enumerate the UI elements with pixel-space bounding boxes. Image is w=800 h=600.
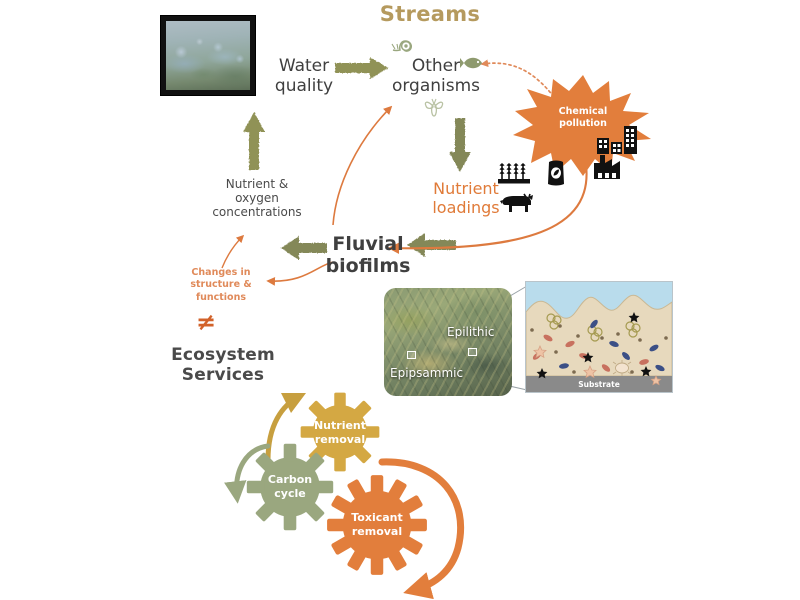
gear-toxicant-removal[interactable]: Toxicant removal [325, 473, 429, 577]
cow-icon [500, 192, 534, 215]
node-nutrient-oxygen: Nutrient & oxygen concentrations [202, 177, 312, 219]
crops-icon [497, 158, 531, 184]
node-changes: Changes in structure & functions [175, 267, 267, 304]
biofilm-schematic: Substrate [525, 281, 673, 393]
marker-epilithic [468, 348, 477, 356]
arrow-changes-to-otherorganisms [333, 107, 391, 225]
node-ecosystem-services: Ecosystem Services [128, 345, 318, 385]
arrow-nutrientloadings-down [449, 118, 471, 172]
photo-label-epipsammic: Epipsammic [390, 366, 463, 380]
arrow-right-to-fluvialbiofilms [407, 233, 456, 257]
snail-icon [391, 36, 415, 53]
arrow-changes-to-nutrientoxygen [222, 236, 243, 268]
insect-icon [422, 98, 446, 118]
photo-label-epilithic: Epilithic [447, 325, 494, 339]
page-title: Streams [330, 2, 530, 27]
fertilizer-bag-icon [545, 159, 567, 187]
diagram-canvas: Streams Chemical pollution Water quality… [0, 0, 800, 600]
marker-epipsammic [407, 351, 416, 359]
city-buildings-icon [596, 125, 638, 155]
node-fluvial-biofilms: Fluvial biofilms [316, 233, 420, 278]
biofilm-photo: Epilithic Epipsammic [384, 288, 512, 396]
not-equal-symbol: ≠ [186, 308, 226, 336]
factory-icon [592, 152, 628, 180]
arrow-fluvialbiofilms-to-changes [268, 262, 333, 281]
gear-carbon-cycle[interactable]: Carbon cycle [245, 442, 335, 532]
arrow-fluvialbiofilms-to-nutrientoxygen [281, 236, 327, 260]
arrow-nutrientoxygen-to-waterquality [243, 112, 265, 170]
node-water-quality: Water quality [258, 56, 350, 96]
arrow-waterquality-to-otherorganisms [335, 57, 388, 79]
svg-text:Substrate: Substrate [578, 380, 620, 389]
fish-icon [460, 55, 486, 71]
stream-photo [161, 16, 255, 95]
